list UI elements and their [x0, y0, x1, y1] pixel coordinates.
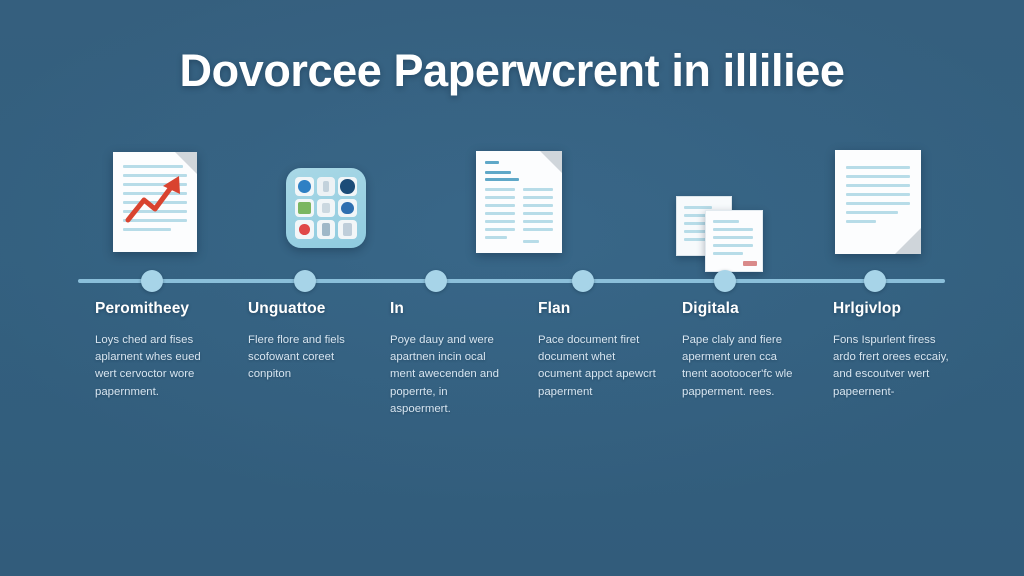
page-title: Dovorcee Paperwcrent in illiliee [0, 45, 1024, 97]
timeline-axis [78, 279, 945, 283]
timeline-item-label: In [390, 300, 540, 318]
timeline-item-label: Flan [538, 300, 688, 318]
timeline-item-4[interactable]: Flan Pace document firet document whet o… [538, 300, 688, 401]
timeline-dot-1[interactable] [141, 270, 163, 292]
timeline-item-label: Digitala [682, 300, 832, 318]
mini-app-tile [338, 199, 357, 218]
timeline-item-label: Hrlgivlop [833, 300, 983, 318]
document-chart-icon [113, 152, 197, 252]
two-column-document-icon [476, 151, 562, 253]
timeline-item-2[interactable]: Unguattoe Flere flore and fiels scofowan… [248, 300, 398, 384]
timeline-dot-4[interactable] [572, 270, 594, 292]
mini-app-tile [295, 199, 314, 218]
timeline-dot-5[interactable] [714, 270, 736, 292]
timeline-item-1[interactable]: Peromitheey Loys ched ard fises aplarnen… [95, 300, 245, 401]
timeline-item-5[interactable]: Digitala Pape claly and fiere aperment u… [682, 300, 832, 401]
timeline-item-label: Unguattoe [248, 300, 398, 318]
timeline-item-label: Peromitheey [95, 300, 245, 318]
mini-app-tile [338, 177, 357, 196]
timeline-dot-3[interactable] [425, 270, 447, 292]
document-text-lines [476, 151, 562, 253]
timeline-item-body: Flere flore and fiels scofowant coreet c… [248, 332, 368, 384]
app-folder-grid-icon [286, 168, 366, 248]
mini-app-tile [295, 177, 314, 196]
mini-app-tile [317, 220, 336, 239]
timeline-item-body: Fons Ispurlent firess ardo frert orees e… [833, 332, 953, 401]
timeline-item-3[interactable]: In Poye dauy and were apartnen incin oca… [390, 300, 540, 418]
mini-app-tile [317, 177, 336, 196]
document-stamp [743, 261, 757, 266]
mini-app-tile [338, 220, 357, 239]
timeline-item-body: Poye dauy and were apartnen incin ocal m… [390, 332, 510, 418]
mini-app-tile [317, 199, 336, 218]
infographic-canvas: Dovorcee Paperwcrent in illiliee [0, 0, 1024, 576]
timeline-dot-6[interactable] [864, 270, 886, 292]
page-fold-corner [895, 228, 921, 254]
timeline-item-body: Pace document firet document whet ocumen… [538, 332, 658, 401]
mini-app-tile [295, 220, 314, 239]
timeline-dot-2[interactable] [294, 270, 316, 292]
growth-arrow-icon [113, 152, 197, 252]
timeline-item-body: Loys ched ard fises aplarnent whes eued … [95, 332, 215, 401]
document-folded-corner-icon [835, 150, 921, 254]
timeline-item-6[interactable]: Hrlgivlop Fons Ispurlent firess ardo fre… [833, 300, 983, 401]
timeline-item-body: Pape claly and fiere aperment uren cca t… [682, 332, 802, 401]
